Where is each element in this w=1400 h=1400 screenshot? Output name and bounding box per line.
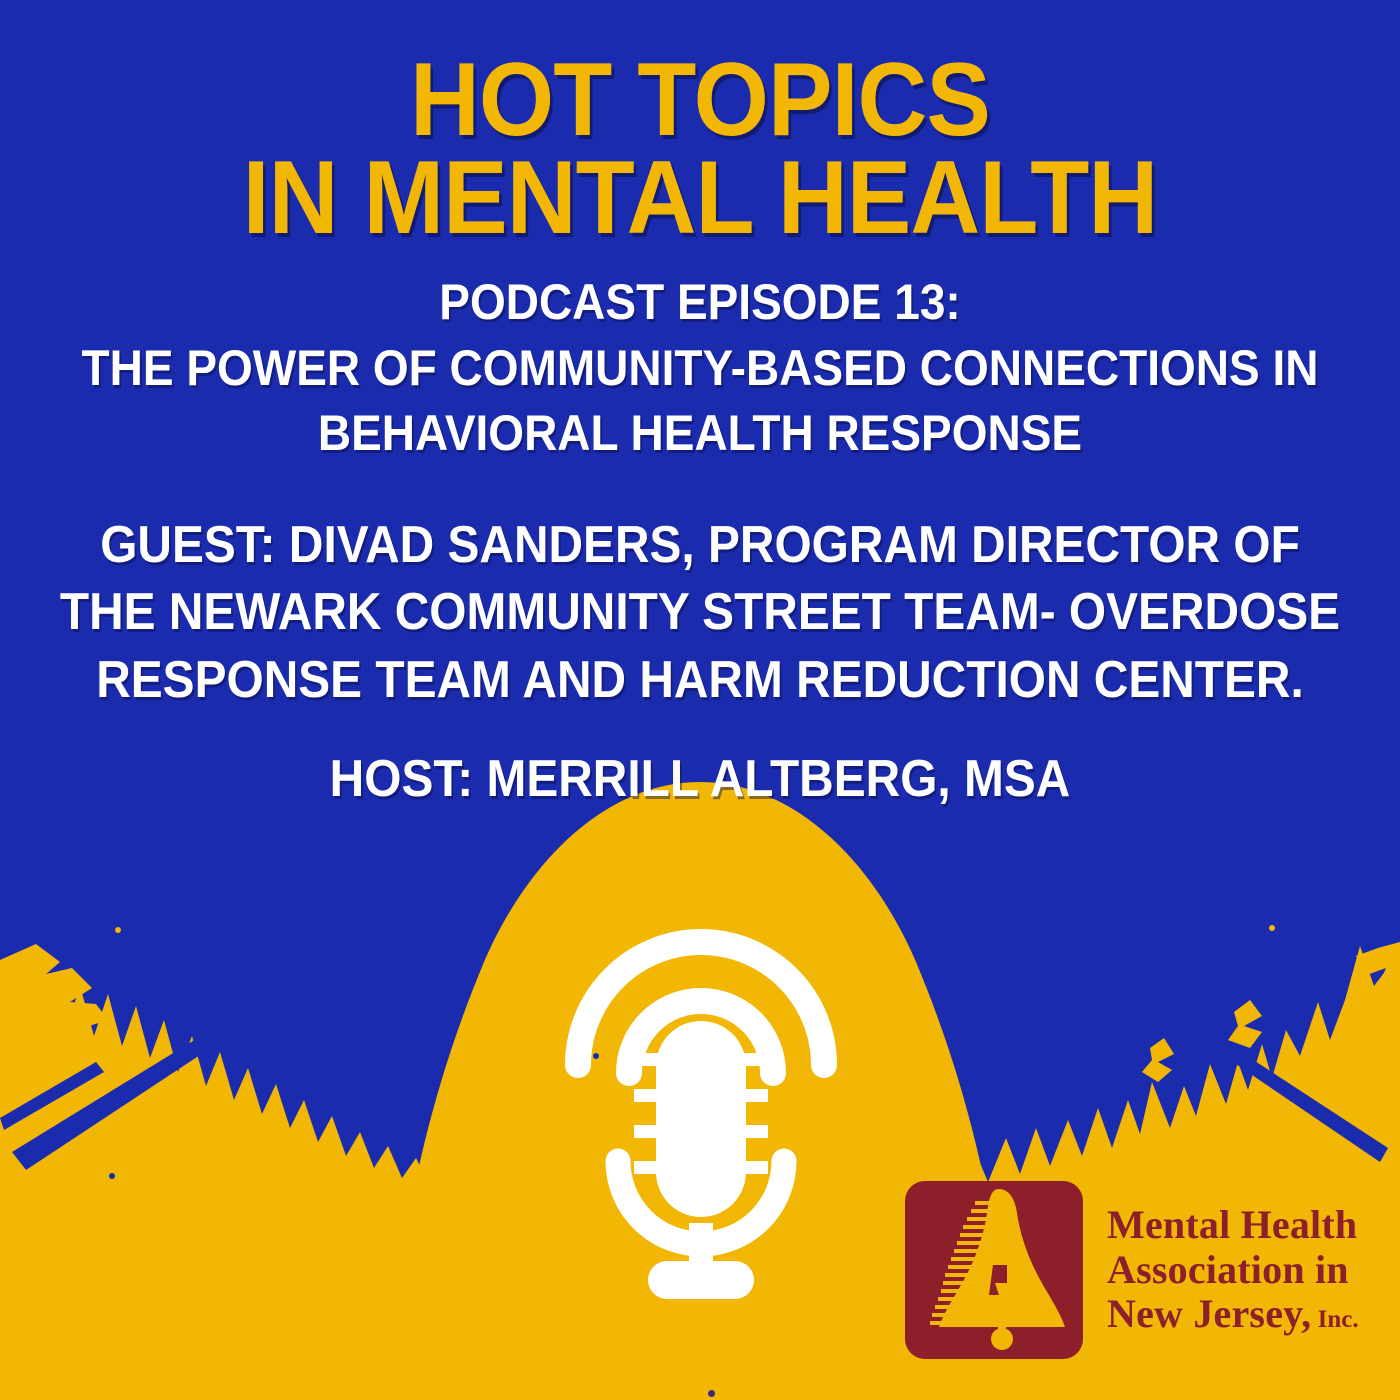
cover-text-stack: HOT TOPICS IN MENTAL HEALTH PODCAST EPIS…: [0, 0, 1400, 811]
episode-title-line-1: THE POWER OF COMMUNITY-BASED CONNECTIONS…: [56, 336, 1344, 401]
guest-credit-line-1: GUEST: DIVAD SANDERS, PROGRAM DIRECTOR O…: [56, 512, 1344, 580]
mhanj-logo: Mental Health Association in New Jersey,…: [903, 1175, 1350, 1365]
episode-label: PODCAST EPISODE 13:: [56, 274, 1344, 330]
show-title-line-1: HOT TOPICS: [49, 52, 1351, 150]
liberty-bell-profile-mark-icon: [903, 1179, 1085, 1361]
episode-title: THE POWER OF COMMUNITY-BASED CONNECTIONS…: [56, 336, 1344, 466]
logo-wordmark-state: New Jersey,: [1107, 1291, 1311, 1336]
mic-stand-stem: [689, 1223, 713, 1267]
episode-title-line-2: BEHAVIORAL HEALTH RESPONSE: [56, 401, 1344, 466]
logo-wordmark-line-3: New Jersey, Inc.: [1107, 1292, 1359, 1337]
guest-credit: GUEST: DIVAD SANDERS, PROGRAM DIRECTOR O…: [56, 512, 1344, 715]
speckle-dot: [1269, 925, 1275, 931]
show-title-line-2: IN MENTAL HEALTH: [49, 150, 1351, 248]
podcast-cover-art: HOT TOPICS IN MENTAL HEALTH PODCAST EPIS…: [0, 0, 1400, 1400]
guest-credit-line-2: THE NEWARK COMMUNITY STREET TEAM- OVERDO…: [56, 579, 1344, 647]
logo-wordmark-line-1: Mental Health: [1107, 1203, 1359, 1248]
speckle-dot: [1017, 1157, 1023, 1163]
logo-wordmark-inc: Inc.: [1311, 1306, 1358, 1333]
speckle-dot: [115, 927, 121, 933]
mic-capsule-body: [656, 1021, 746, 1217]
podcast-microphone-icon: [556, 893, 846, 1305]
bell-clapper-stem: [998, 1323, 1006, 1335]
artifact-speck: [708, 1390, 715, 1397]
logo-wordmark-line-2: Association in: [1107, 1248, 1359, 1293]
speckle-dot: [109, 1173, 115, 1179]
guest-credit-line-3: RESPONSE TEAM AND HARM REDUCTION CENTER.: [56, 647, 1344, 715]
host-credit: HOST: MERRILL ALTBERG, MSA: [56, 748, 1344, 810]
logo-wordmark: Mental Health Association in New Jersey,…: [1107, 1203, 1359, 1337]
mic-stand-base: [648, 1261, 754, 1299]
